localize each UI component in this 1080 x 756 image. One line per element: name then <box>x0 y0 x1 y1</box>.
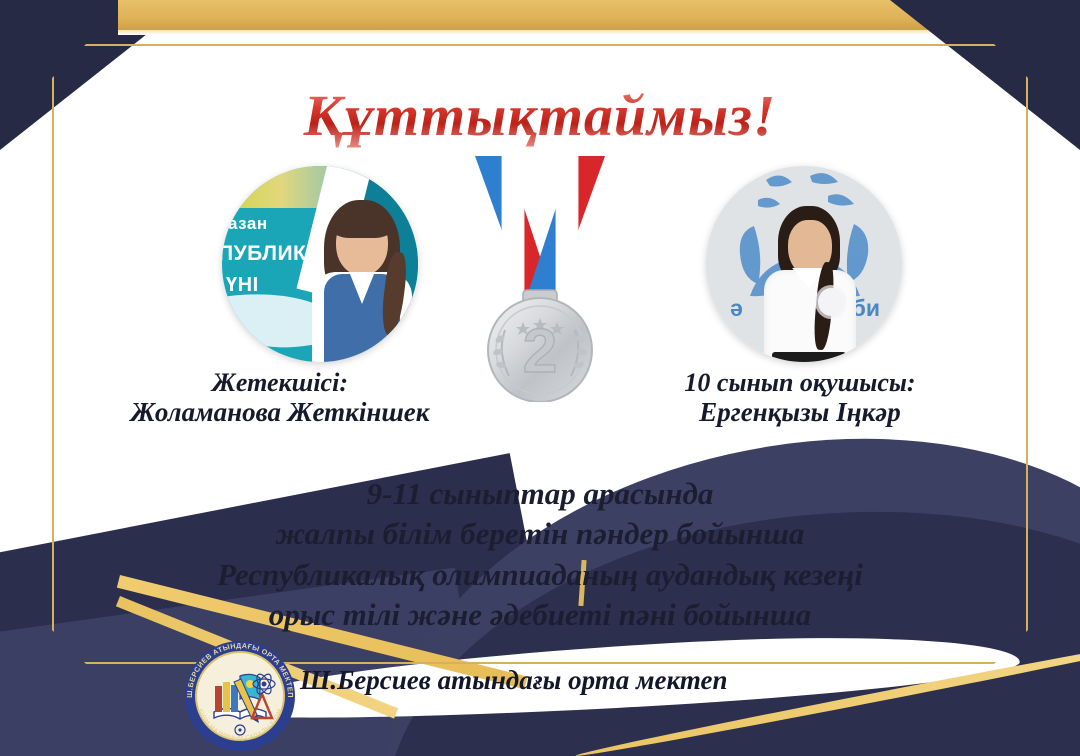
teacher-name-block: Жетекшісі: Жоламанова Жеткіншек <box>60 368 500 427</box>
student-figure <box>762 206 858 362</box>
school-emblem-icon: Ш.БЕРСИЕВ АТЫНДАҒЫ ОРТА МЕКТЕП БІЛІМ МАЗ… <box>184 640 296 752</box>
silver-medal-icon: 2 <box>465 150 615 402</box>
wall-text-left: ә <box>730 295 743 322</box>
banner-text-line-3: ҮНІ <box>226 274 259 297</box>
teacher-figure <box>306 200 418 362</box>
achievement-description: 9-11 сыныптар арасында жалпы білім берет… <box>0 474 1080 635</box>
teacher-name: Жоламанова Жеткіншек <box>60 397 500 427</box>
teacher-photo: азан ПУБЛИКА ҮНІ <box>222 166 418 362</box>
teacher-role-label: Жетекшісі: <box>60 368 500 397</box>
school-name: Ш.Берсиев атындағы орта мектеп <box>300 665 860 696</box>
teacher-hair-front <box>332 208 392 238</box>
banner-text-line-1: азан <box>228 214 268 234</box>
student-photo: би ә <box>706 166 902 362</box>
achievement-line-2: жалпы білім беретін пәндер бойынша <box>0 514 1080 554</box>
achievement-line-4: орыс тілі және әдебиеті пәні бойынша <box>0 595 1080 635</box>
achievement-line-3: Республикалық олимпиаданың аудандық кезе… <box>0 555 1080 595</box>
achievement-line-1: 9-11 сыныптар арасында <box>0 474 1080 514</box>
student-name-block: 10 сынып оқушысы: Ергенқызы Іңкәр <box>590 368 1010 427</box>
student-flower-brooch <box>818 288 844 316</box>
student-belt <box>772 352 846 362</box>
medal-place-number: 2 <box>523 317 557 386</box>
student-role-label: 10 сынып оқушысы: <box>590 368 1010 397</box>
congratulation-poster: Құттықтаймыз! азан ПУБЛИКА ҮНІ <box>0 0 1080 756</box>
student-name: Ергенқызы Іңкәр <box>590 397 1010 427</box>
page-title: Құттықтаймыз! <box>0 82 1080 149</box>
